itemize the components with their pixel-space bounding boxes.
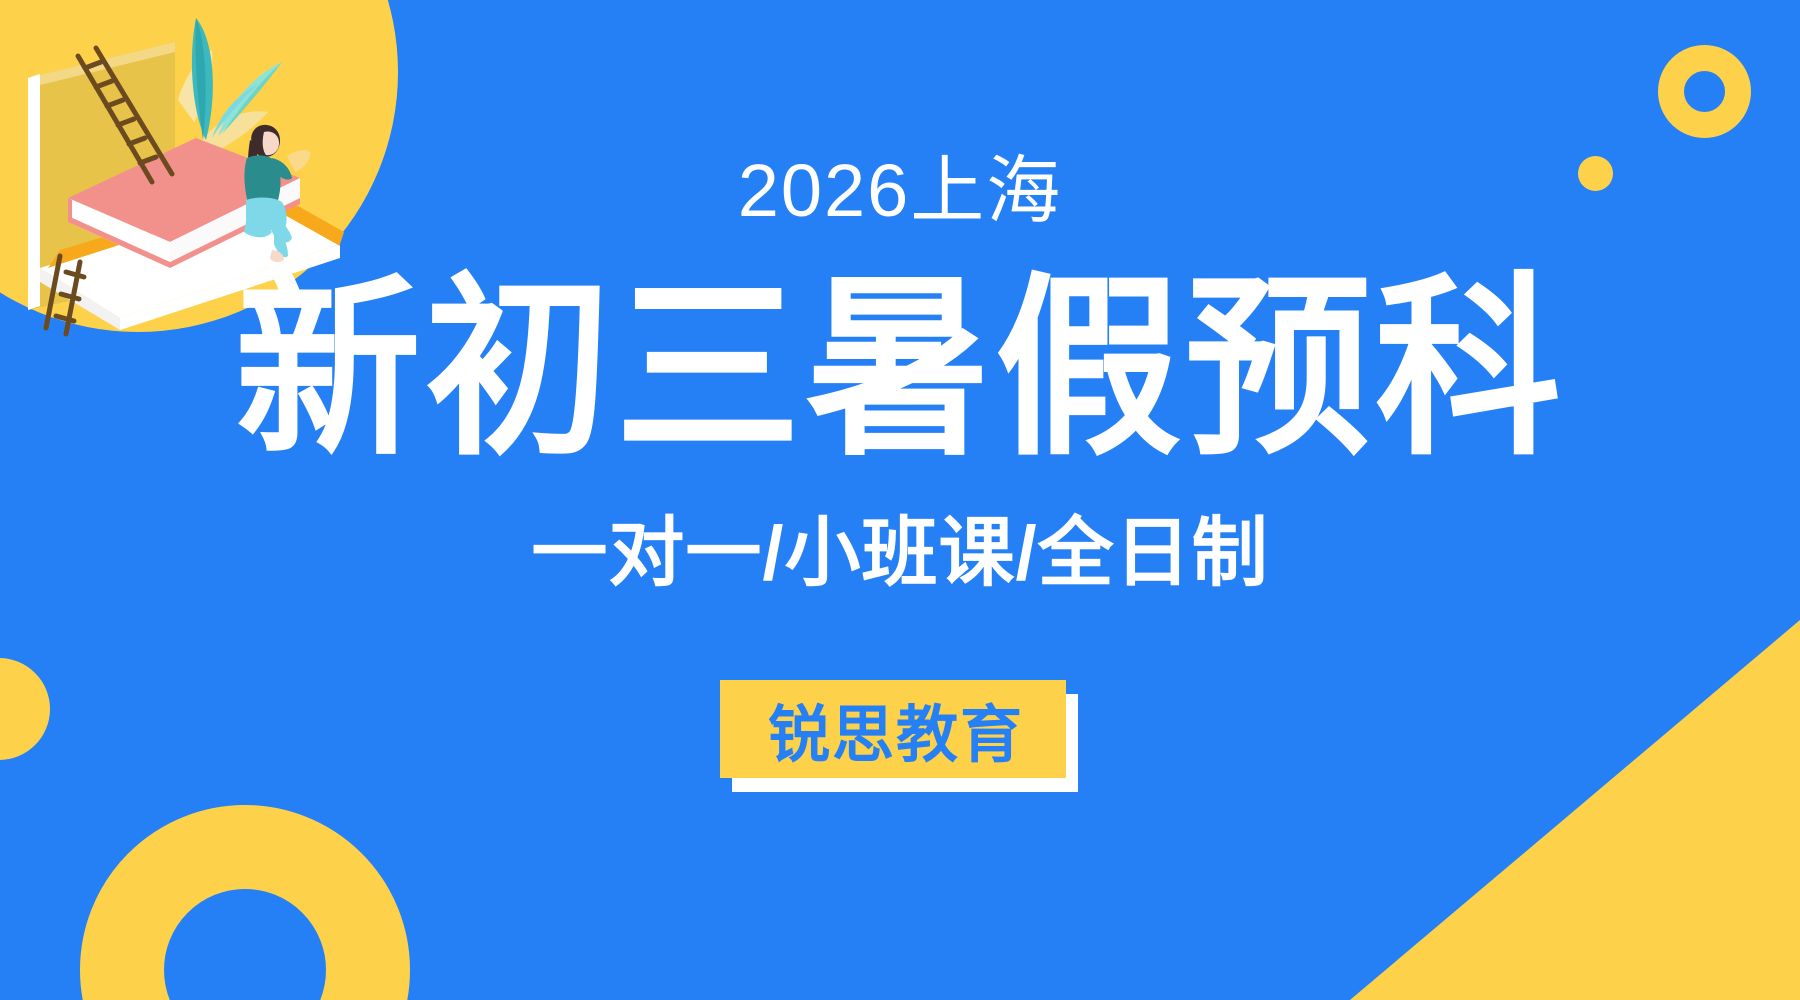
page-title: 新初三暑假预科 <box>0 265 1800 475</box>
eyebrow-text: 2026上海 <box>0 148 1800 234</box>
poster-text-block: 2026上海 新初三暑假预科 一对一/小班课/全日制 <box>0 0 1800 1000</box>
promo-poster: 2026上海 新初三暑假预科 一对一/小班课/全日制 锐思教育 <box>0 0 1800 1000</box>
brand-name-label: 锐思教育 <box>720 680 1066 778</box>
brand-badge: 锐思教育 <box>720 680 1080 792</box>
tagline-text: 一对一/小班课/全日制 <box>0 508 1800 600</box>
